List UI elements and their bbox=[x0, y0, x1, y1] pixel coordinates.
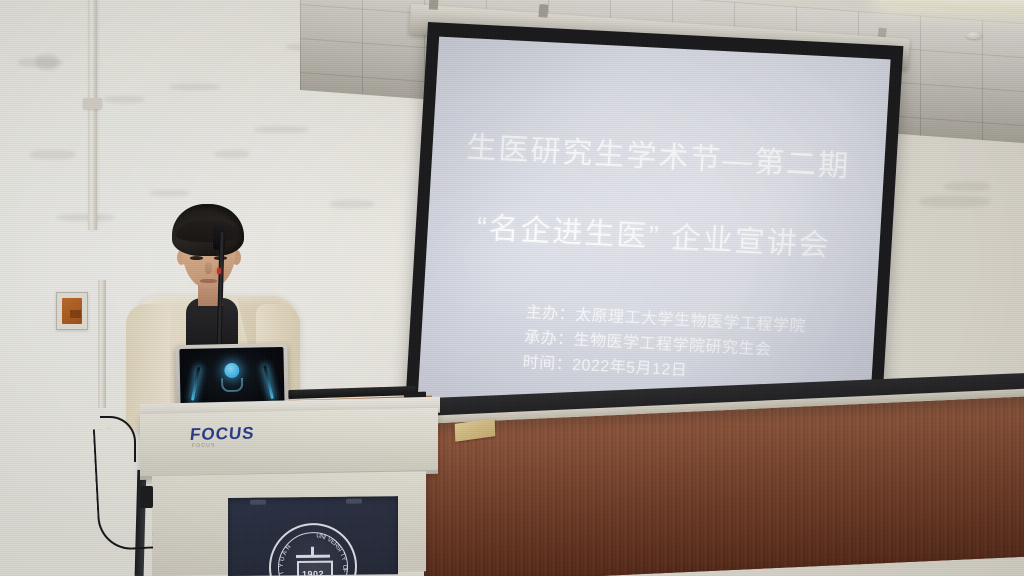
wall-conduit-pipe-lower bbox=[98, 280, 106, 408]
laptop-brand-mark-icon bbox=[221, 378, 243, 392]
wall-scuff bbox=[944, 182, 990, 191]
presenter-eye-left bbox=[190, 256, 203, 260]
presentation-slide: 生医研究生学术节—第二期 “名企进生医” 企业宣讲会 主办：太原理工大学生物医学… bbox=[417, 37, 891, 433]
emblem-arc-char: Y bbox=[340, 556, 348, 563]
wall-socket-box[interactable] bbox=[56, 292, 88, 330]
panel-hinge bbox=[346, 499, 362, 504]
emblem-arc-char: U bbox=[279, 556, 287, 562]
emblem-arc-char: Y bbox=[278, 563, 285, 568]
slide-title-line-2: “名企进生医” 企业宣讲会 bbox=[427, 200, 881, 267]
wall-scuff bbox=[56, 214, 114, 221]
panel-hinge bbox=[250, 500, 266, 505]
emblem-stem-shape bbox=[311, 547, 314, 557]
podium-emblem-panel: UNIVERSITY OF TECHNOLOGYTAIYUAN 1902 bbox=[228, 496, 398, 576]
podium-front-upper: FOCUS FOCUS bbox=[140, 408, 438, 480]
podium-brand-subtext: FOCUS bbox=[192, 442, 216, 448]
wall-scuff bbox=[920, 196, 990, 207]
wall-socket-face bbox=[62, 298, 82, 324]
wall-socket-slot bbox=[70, 310, 81, 318]
wall-scuff bbox=[170, 84, 220, 90]
laptop-accent-light-right bbox=[263, 365, 274, 399]
wall-scuff bbox=[36, 54, 58, 70]
emblem-founding-year: 1902 bbox=[302, 569, 324, 576]
wall-scuff bbox=[150, 190, 190, 196]
wall-conduit-pipe bbox=[88, 0, 97, 230]
university-emblem: UNIVERSITY OF TECHNOLOGYTAIYUAN 1902 bbox=[269, 523, 357, 576]
presenter-mouth bbox=[200, 279, 217, 283]
conduit-clamp bbox=[83, 98, 102, 109]
housing-bracket bbox=[538, 4, 548, 18]
presenter-nose bbox=[205, 262, 212, 274]
smoke-detector-icon bbox=[966, 32, 982, 39]
wall-scuff bbox=[104, 96, 144, 103]
slide-title-line-1: 生医研究生学术节—第二期 bbox=[432, 120, 886, 187]
microphone-indicator-led bbox=[217, 268, 221, 274]
wall-scuff bbox=[214, 150, 250, 158]
housing-bracket bbox=[429, 0, 439, 10]
laptop-accent-light-left bbox=[191, 367, 200, 401]
wainscot-sheen bbox=[424, 396, 1024, 576]
emblem-arc-char: F bbox=[341, 569, 348, 574]
cable-clip bbox=[140, 486, 153, 508]
laptop-screen[interactable] bbox=[179, 347, 284, 407]
wall-scuff bbox=[254, 126, 308, 133]
laptop-logo-icon bbox=[224, 363, 239, 378]
wall-scuff bbox=[30, 150, 76, 159]
lecture-hall-scene: 生医研究生学术节—第二期 “名企进生医” 企业宣讲会 主办：太原理工大学生物医学… bbox=[0, 0, 1024, 576]
projection-surface: 生医研究生学术节—第二期 “名企进生医” 企业宣讲会 主办：太原理工大学生物医学… bbox=[417, 37, 891, 433]
wood-wainscot-panel bbox=[424, 396, 1024, 576]
slide-info-block: 主办：太原理工大学生物医学工程学院 承办：生物医学工程学院研究生会 时间：202… bbox=[522, 301, 807, 389]
wall-scuff bbox=[330, 200, 374, 208]
